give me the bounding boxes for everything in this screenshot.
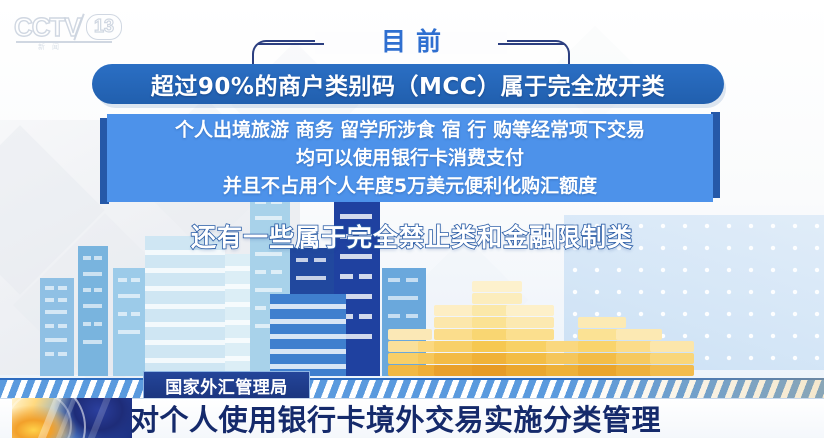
secondary-banner-line-3: 并且不占用个人年度5万美元便利化购汇额度 — [223, 173, 597, 200]
agency-name-box: 国家外汇管理局 — [143, 371, 310, 399]
cctv-channel-number: 13 — [86, 14, 122, 40]
secondary-banner-body: 个人出境旅游 商务 留学所涉食 宿 行 购等经常项下交易 均可以使用银行卡消费支… — [107, 114, 713, 202]
secondary-banner: 个人出境旅游 商务 留学所涉食 宿 行 购等经常项下交易 均可以使用银行卡消费支… — [100, 112, 720, 204]
cctv-channel-logo: CCTV 13 新闻 — [14, 12, 122, 46]
globe-graphic-icon — [12, 398, 132, 438]
primary-banner: 超过90%的商户类别码（MCC）属于完全放开类 — [92, 64, 726, 108]
broadcast-screen: CCTV 13 新闻 目前 超过90%的商户类别码（MCC）属于完全放开类 个人… — [0, 0, 824, 438]
primary-banner-text: 超过90%的商户类别码（MCC）属于完全放开类 — [151, 67, 665, 101]
secondary-banner-line-2: 均可以使用银行卡消费支付 — [296, 145, 524, 172]
agency-name-text: 国家外汇管理局 — [165, 373, 288, 398]
headline-text: 对个人使用银行卡境外交易实施分类管理 — [130, 398, 661, 438]
cctv-logo-subtitle: 新闻 — [38, 42, 98, 52]
primary-banner-pill: 超过90%的商户类别码（MCC）属于完全放开类 — [92, 64, 724, 104]
outlined-caption-text: 还有一些属于完全禁止类和金融限制类 — [0, 218, 824, 254]
secondary-banner-line-1: 个人出境旅游 商务 留学所涉食 宿 行 购等经常项下交易 — [175, 117, 645, 144]
cctv-logo-text: CCTV — [14, 12, 81, 43]
page-title: 目前 — [315, 22, 507, 58]
gold-coin-stacks-illustration — [388, 236, 718, 376]
lower-third-stripe-fade — [560, 378, 824, 398]
title-rule-right — [498, 43, 564, 45]
